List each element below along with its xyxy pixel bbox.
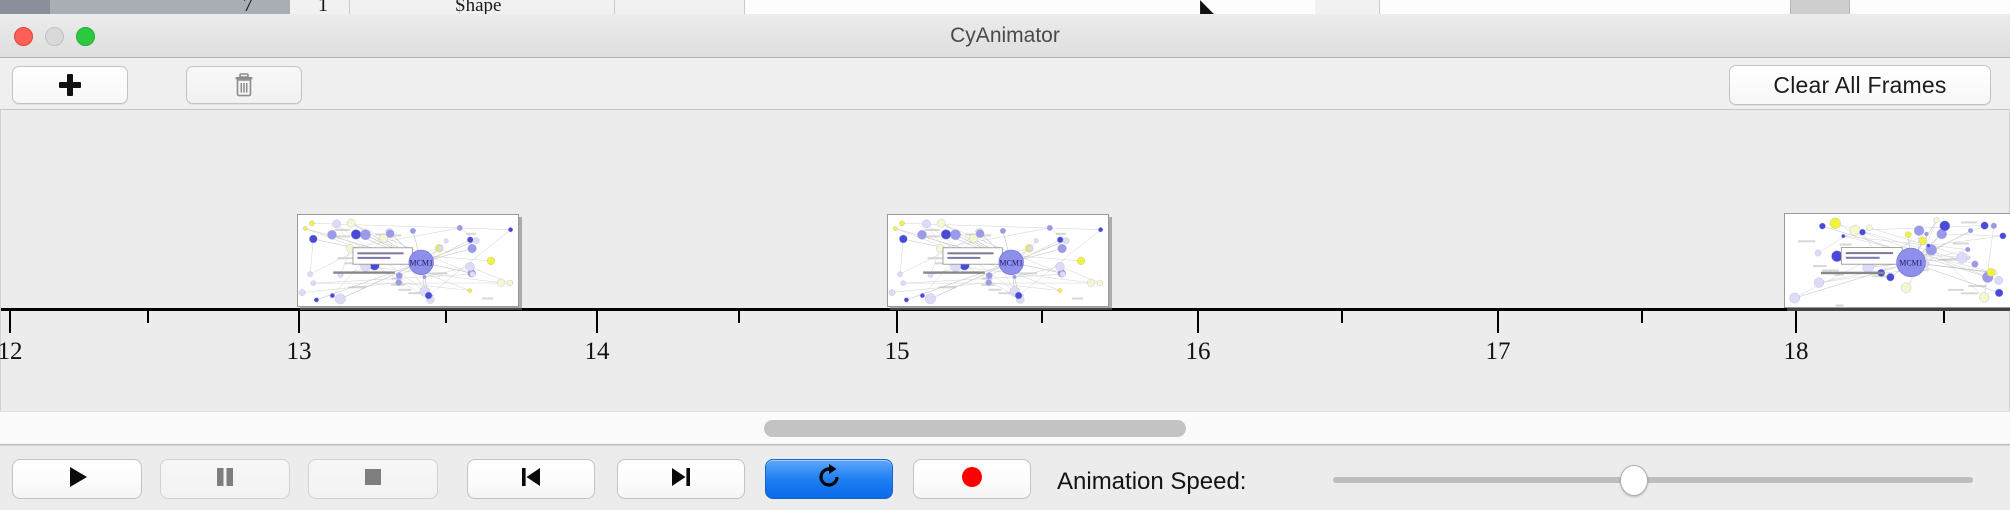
axis-tick-label: 17 — [1486, 338, 1511, 366]
skip-back-icon — [518, 464, 544, 495]
stop-icon — [361, 465, 385, 494]
timeline-frame-thumbnail[interactable]: MCM1 — [297, 214, 519, 307]
svg-text:MCM1: MCM1 — [999, 258, 1023, 267]
animation-speed-slider-knob[interactable] — [1620, 465, 1648, 496]
axis-tick — [1497, 311, 1499, 333]
animation-speed-label: Animation Speed: — [1057, 468, 1246, 496]
axis-tick — [1041, 311, 1043, 323]
axis-tick-label: 16 — [1186, 338, 1211, 366]
clear-all-frames-button[interactable]: Clear All Frames — [1729, 65, 1991, 105]
axis-tick — [1341, 311, 1343, 323]
axis-tick — [896, 311, 898, 333]
axis-tick — [738, 311, 740, 323]
axis-tick-label: 15 — [885, 338, 910, 366]
background-shape-label: Shape — [455, 0, 501, 14]
axis-tick — [1197, 311, 1199, 333]
title-bar[interactable]: CyAnimator — [0, 14, 2010, 58]
skip-forward-icon — [668, 464, 694, 495]
previous-frame-button[interactable] — [467, 459, 595, 499]
trash-icon — [234, 73, 254, 97]
background-window-dark — [0, 0, 50, 14]
axis-tick-label: 12 — [0, 338, 23, 366]
background-chip — [350, 0, 460, 14]
axis-tick — [1795, 311, 1797, 333]
background-windows-strip: 7 1 Shape ◣ — [0, 0, 2010, 14]
axis-tick-label: 13 — [287, 338, 312, 366]
loop-button[interactable] — [765, 459, 893, 499]
background-scrollbar — [1790, 0, 1850, 14]
axis-tick — [298, 311, 300, 333]
play-button[interactable] — [12, 459, 142, 499]
frames-toolbar: Clear All Frames — [0, 58, 2010, 110]
background-chip — [615, 0, 745, 14]
next-frame-button[interactable] — [617, 459, 745, 499]
clear-all-frames-label: Clear All Frames — [1773, 72, 1946, 99]
axis-tick-label: 14 — [585, 338, 610, 366]
plus-icon — [59, 74, 81, 96]
playback-controls: Animation Speed: — [0, 445, 2010, 510]
record-icon — [959, 464, 985, 495]
background-glyph: 7 — [243, 0, 253, 14]
axis-tick-label: 18 — [1784, 338, 1809, 366]
timeline-axis — [1, 308, 2010, 311]
delete-frame-button[interactable] — [186, 66, 302, 104]
timeline-scrollbar[interactable] — [0, 411, 2010, 445]
axis-tick — [445, 311, 447, 323]
add-frame-button[interactable] — [12, 66, 128, 104]
timeline-scrollbar-thumb[interactable] — [764, 420, 1186, 437]
background-glyph: ◣ — [1200, 0, 1215, 14]
pause-icon — [213, 464, 237, 495]
record-button[interactable] — [913, 459, 1031, 499]
svg-text:MCM1: MCM1 — [1899, 258, 1923, 267]
stop-button[interactable] — [308, 459, 438, 499]
loop-icon — [815, 463, 843, 496]
cyanimator-window: 7 1 Shape ◣ CyAnimator — [0, 0, 2010, 510]
play-icon — [64, 464, 90, 495]
svg-text:MCM1: MCM1 — [409, 258, 433, 267]
window-title: CyAnimator — [0, 14, 2010, 58]
timeline-panel[interactable]: 12131415161718 MCM1 MCM1 MCM1 Se — [0, 110, 2010, 411]
timeline-frame-thumbnail[interactable]: MCM1 — [887, 214, 1109, 307]
background-window-gray — [50, 0, 290, 14]
axis-tick — [147, 311, 149, 323]
timeline-frame-thumbnail[interactable]: MCM1 — [1784, 213, 2010, 308]
axis-tick — [596, 311, 598, 333]
background-chip — [1315, 0, 1380, 14]
axis-tick — [9, 311, 11, 333]
pause-button[interactable] — [160, 459, 290, 499]
axis-tick — [1641, 311, 1643, 323]
animation-speed-slider[interactable] — [1333, 477, 1973, 483]
background-glyph: 1 — [318, 0, 328, 14]
axis-tick — [1943, 311, 1945, 323]
